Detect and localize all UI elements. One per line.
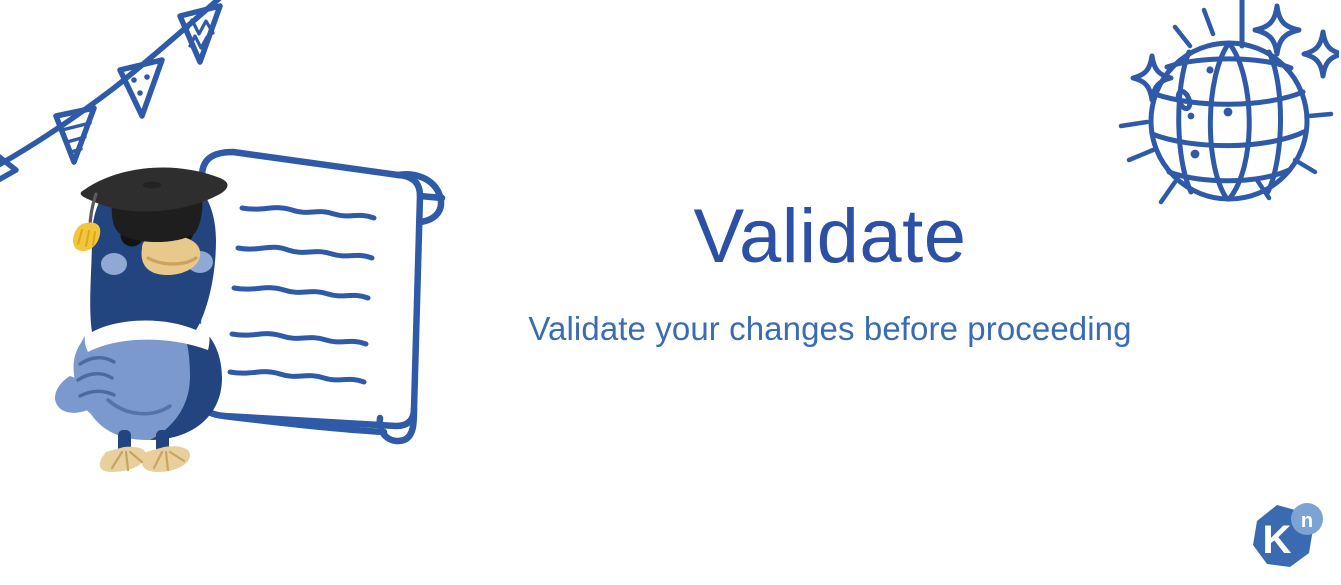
- party-bunting-decoration: [0, 0, 224, 182]
- disco-ball-decoration: [1109, 0, 1339, 229]
- page-title: Validate: [470, 196, 1190, 278]
- logo-letter-n: n: [1301, 510, 1313, 532]
- certificate-scroll: [196, 152, 442, 441]
- slide-canvas: Validate Validate your changes before pr…: [0, 0, 1341, 585]
- logo-letter-k: K: [1263, 518, 1292, 562]
- hero-copy: Validate Validate your changes before pr…: [470, 196, 1190, 349]
- graduate-bird: [55, 168, 227, 472]
- knative-logo: K n: [1243, 499, 1327, 577]
- graduate-bird-with-scroll-illustration: [48, 130, 468, 475]
- page-subtitle: Validate your changes before proceeding: [470, 308, 1190, 349]
- graduation-cap: [73, 168, 227, 252]
